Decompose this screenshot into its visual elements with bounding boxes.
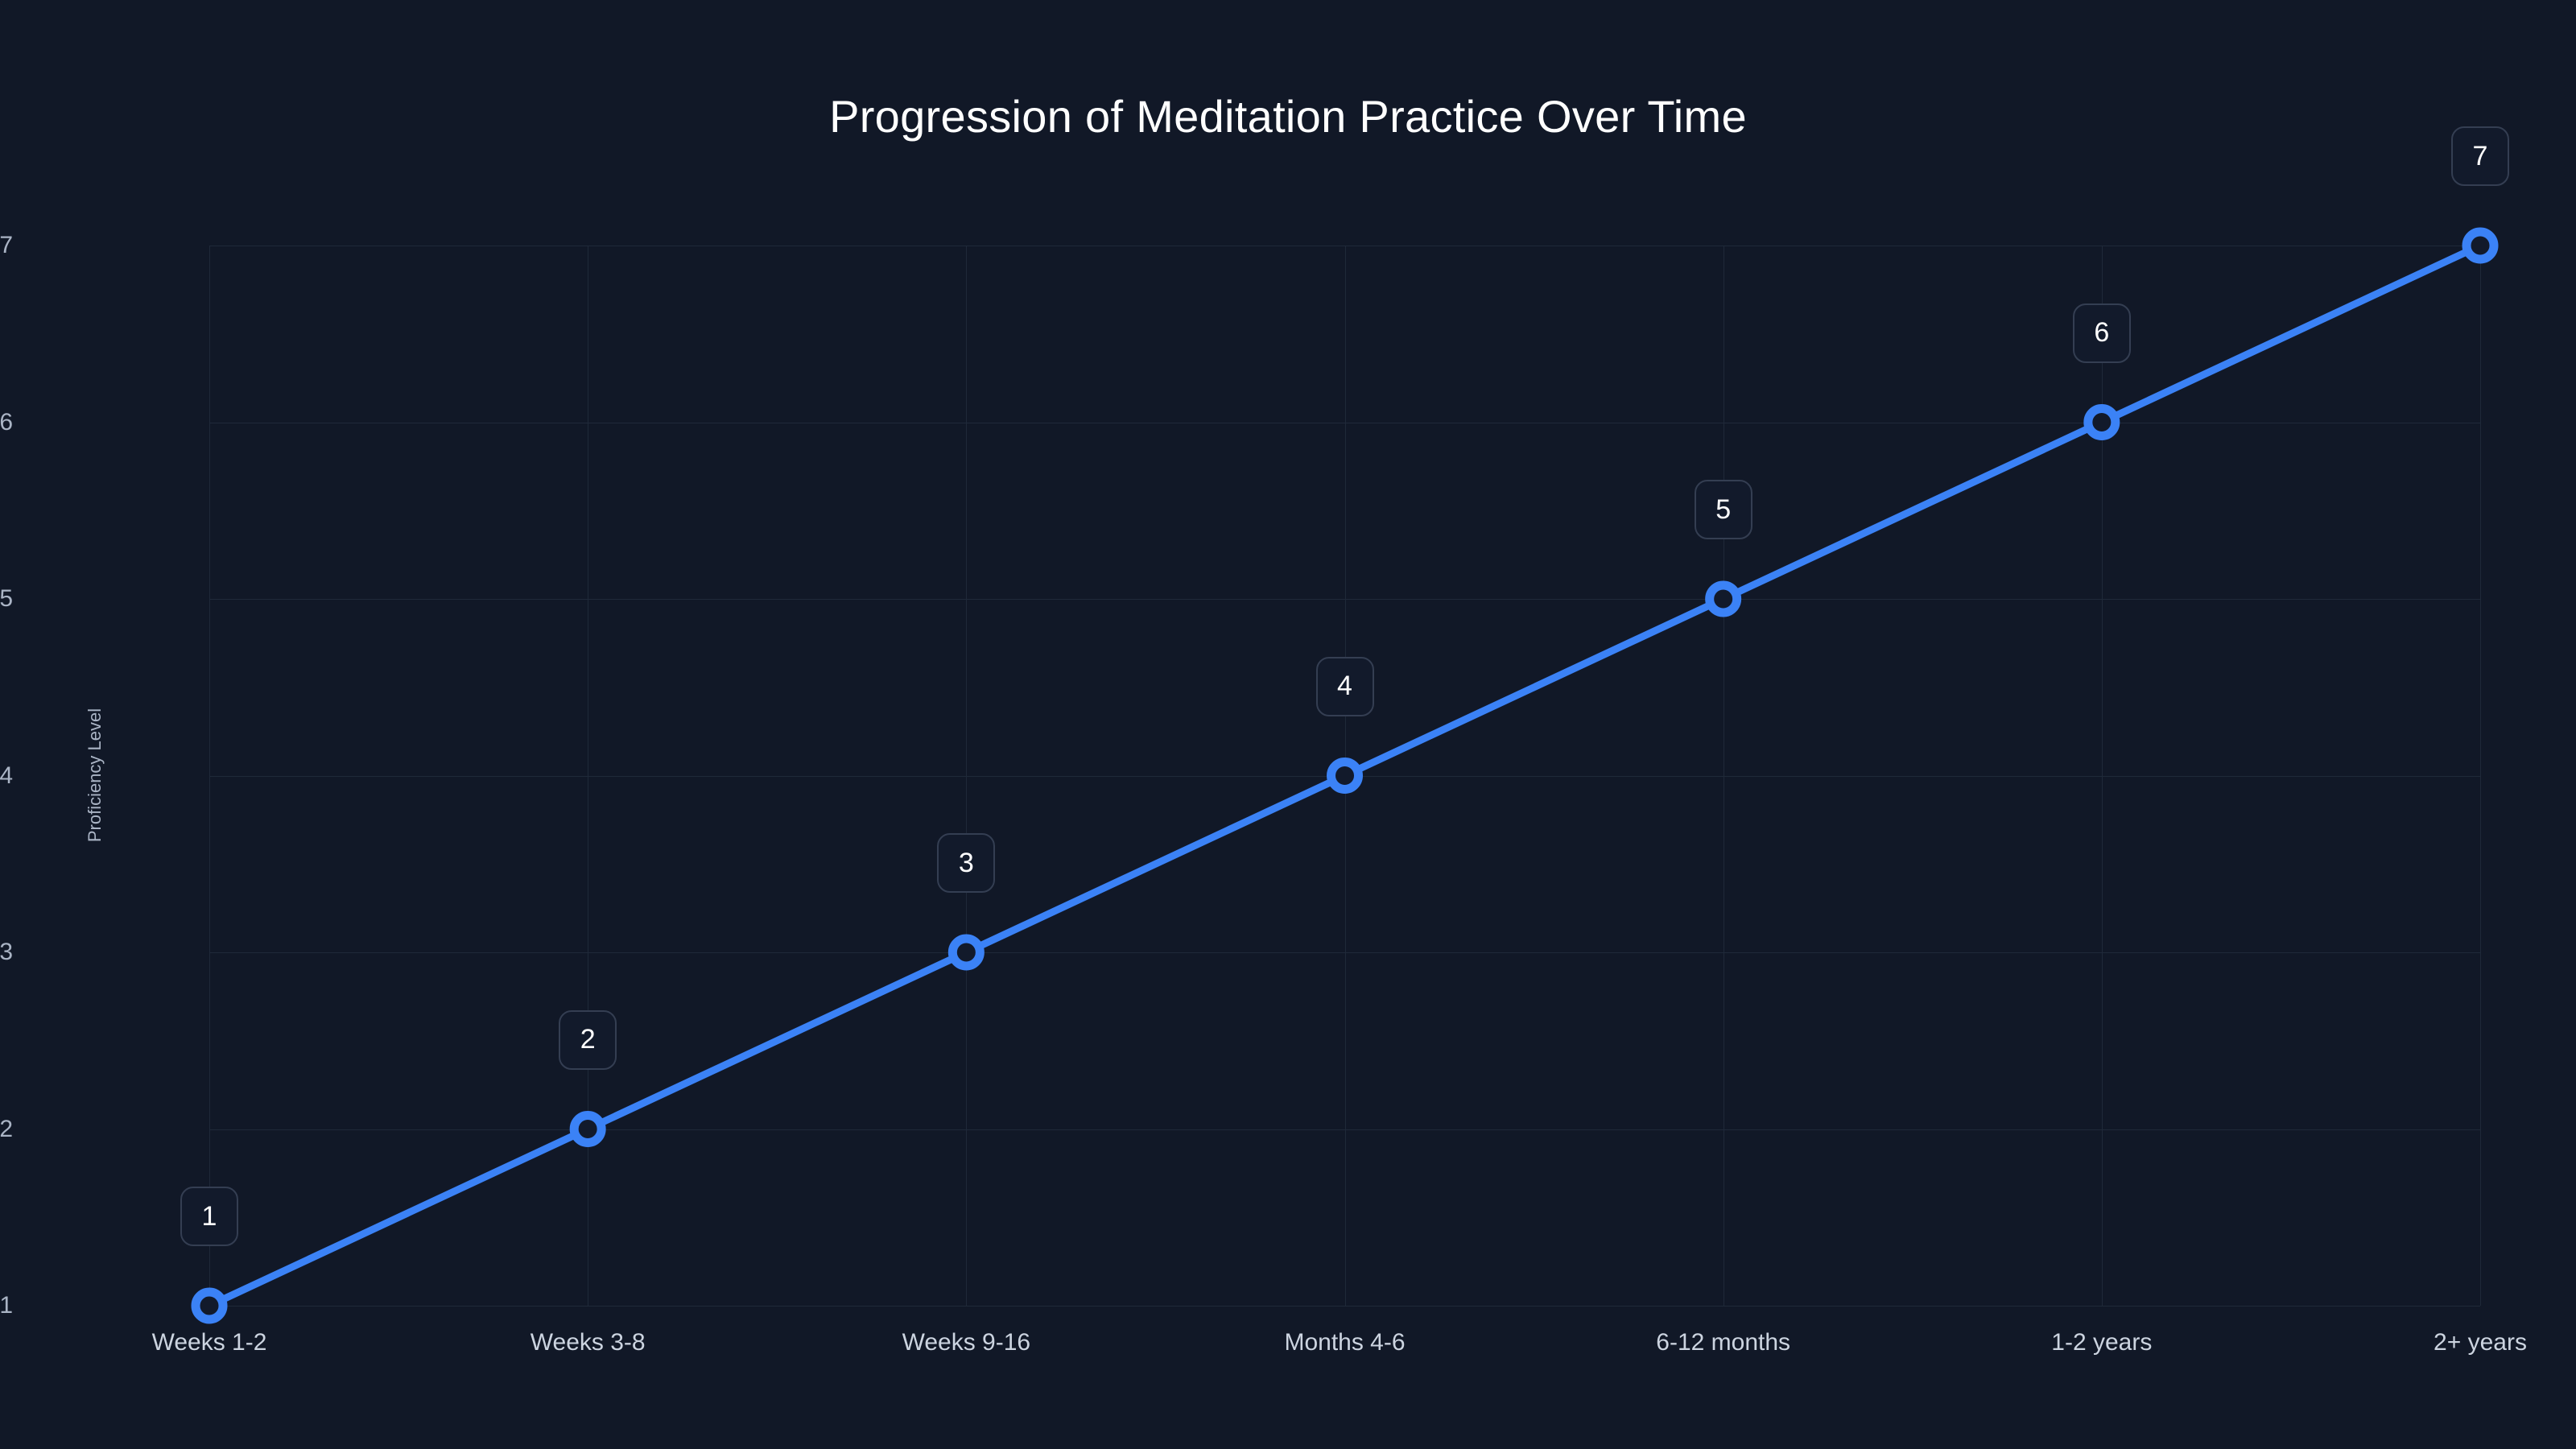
data-point-marker[interactable] bbox=[1331, 762, 1359, 790]
x-axis-tick-label: Weeks 3-8 bbox=[419, 1329, 757, 1356]
data-point-value-badge: 6 bbox=[2073, 303, 2131, 363]
data-point-value-badge: 7 bbox=[2451, 126, 2509, 186]
data-point-marker[interactable] bbox=[2467, 232, 2494, 259]
data-point-value-badge: 3 bbox=[937, 833, 995, 893]
data-point-value-badge: 5 bbox=[1695, 480, 1752, 539]
y-axis-tick-label: 4 bbox=[0, 762, 13, 790]
data-point-marker[interactable] bbox=[2088, 409, 2116, 436]
series-markers bbox=[196, 232, 2494, 1319]
y-axis-tick-label: 6 bbox=[0, 409, 13, 436]
data-point-marker[interactable] bbox=[196, 1292, 223, 1319]
y-axis-tick-label: 3 bbox=[0, 939, 13, 966]
data-point-marker[interactable] bbox=[952, 939, 980, 966]
y-axis-tick-label: 7 bbox=[0, 232, 13, 259]
y-axis-tick-label: 1 bbox=[0, 1292, 13, 1319]
x-axis-tick-label: Weeks 9-16 bbox=[797, 1329, 1135, 1356]
plot-area bbox=[209, 246, 2480, 1306]
page-title: Progression of Meditation Practice Over … bbox=[0, 90, 2576, 142]
gridline-vertical bbox=[2480, 246, 2481, 1306]
y-axis-tick-label: 2 bbox=[0, 1116, 13, 1143]
data-point-value-badge: 4 bbox=[1316, 657, 1374, 716]
x-axis-tick-label: 1-2 years bbox=[1933, 1329, 2271, 1356]
y-axis-title: Proficiency Level bbox=[85, 708, 105, 842]
x-axis-tick-label: Weeks 1-2 bbox=[40, 1329, 378, 1356]
data-point-marker[interactable] bbox=[574, 1116, 601, 1143]
data-point-marker[interactable] bbox=[1710, 585, 1737, 613]
x-axis-tick-label: Months 4-6 bbox=[1176, 1329, 1514, 1356]
x-axis-tick-label: 6-12 months bbox=[1554, 1329, 1893, 1356]
data-point-value-badge: 2 bbox=[559, 1010, 617, 1070]
y-axis-tick-label: 5 bbox=[0, 585, 13, 613]
data-point-value-badge: 1 bbox=[180, 1187, 238, 1246]
gridline-horizontal bbox=[209, 1306, 2480, 1307]
chart-canvas: Progression of Meditation Practice Over … bbox=[0, 0, 2576, 1449]
line-series bbox=[209, 246, 2480, 1306]
x-axis-tick-label: 2+ years bbox=[2311, 1329, 2576, 1356]
